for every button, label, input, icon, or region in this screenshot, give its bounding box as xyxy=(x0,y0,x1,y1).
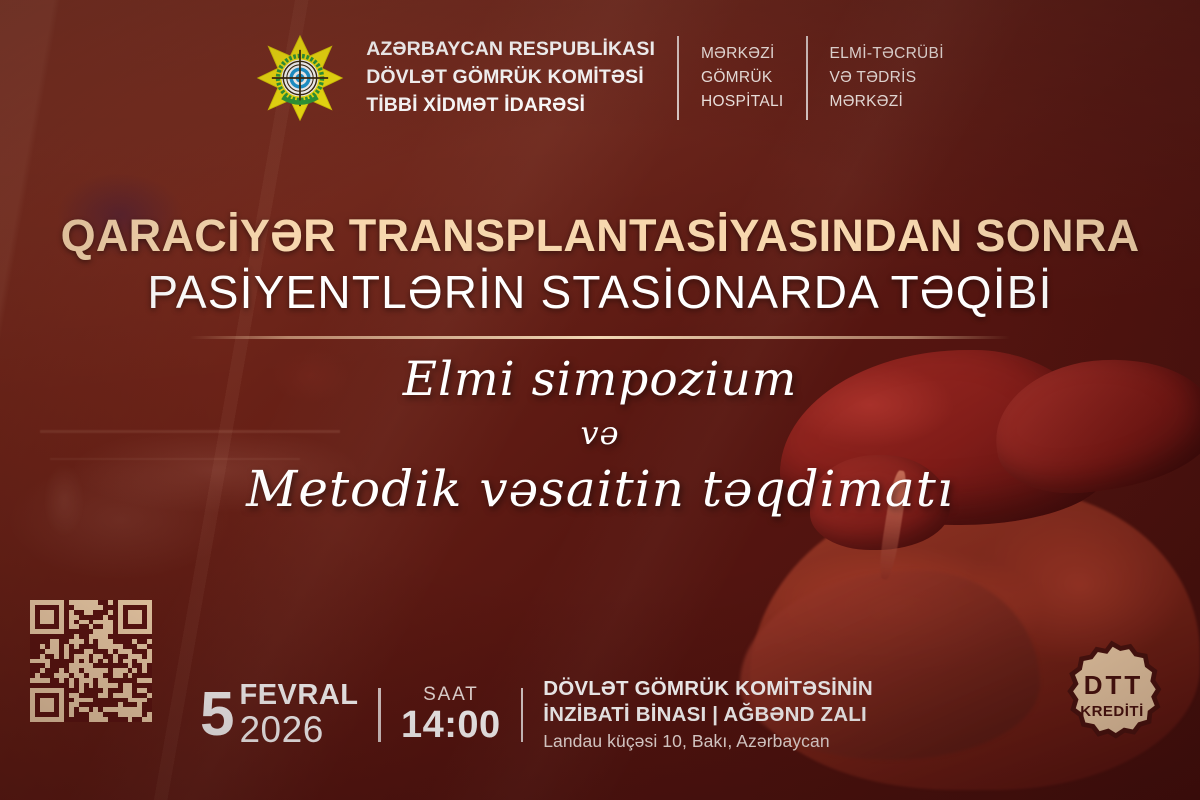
event-time: SAAT 14:00 xyxy=(401,684,501,747)
organization-name: AZƏRBAYCAN RESPUBLİKASI DÖVLƏT GÖMRÜK KO… xyxy=(366,36,655,119)
scalloped-badge-icon xyxy=(1055,638,1169,752)
event-subtitle: Elmi simpozium və Metodik vəsaitin təqdi… xyxy=(0,356,1200,514)
unit-central-customs-hospital: MƏRKƏZİ GÖMRÜK HOSPİTALI xyxy=(701,42,784,114)
header-divider-2 xyxy=(806,36,808,120)
subtitle-line-3: Metodik vəsaitin təqdimatı xyxy=(0,464,1200,514)
org-line-1: AZƏRBAYCAN RESPUBLİKASI xyxy=(366,36,655,64)
title-line-2: PASİYENTLƏRİN STASİONARDA TƏQİBİ xyxy=(0,268,1200,316)
event-details-bar: 5 FEVRAL 2026 SAAT 14:00 DÖVLƏT GÖMRÜK K… xyxy=(200,676,873,754)
subtitle-line-1: Elmi simpozium xyxy=(0,356,1200,403)
event-day: 5 xyxy=(200,688,233,741)
event-month-year: FEVRAL 2026 xyxy=(239,681,358,748)
header-divider-1 xyxy=(677,36,679,120)
page-title: QARACİYƏR TRANSPLANTASİYASINDAN SONRA PA… xyxy=(0,212,1200,317)
unit1-line-3: HOSPİTALI xyxy=(701,90,784,114)
subtitle-line-2: və xyxy=(0,403,1200,464)
org-line-3: TİBBİ XİDMƏT İDARƏSİ xyxy=(366,92,655,120)
time-value: 14:00 xyxy=(401,706,501,746)
unit1-line-1: MƏRKƏZİ xyxy=(701,42,784,66)
gold-divider xyxy=(190,336,1010,339)
venue-line-2: İNZİBATİ BİNASI | AĞBƏND ZALI xyxy=(543,702,873,728)
unit2-line-3: MƏRKƏZİ xyxy=(830,90,944,114)
dtt-credit-badge: DTT KREDİTİ xyxy=(1055,638,1169,752)
poster-header: AZƏRBAYCAN RESPUBLİKASI DÖVLƏT GÖMRÜK KO… xyxy=(0,34,1200,122)
state-customs-committee-emblem-icon xyxy=(256,34,344,122)
unit1-line-2: GÖMRÜK xyxy=(701,66,784,90)
time-label: SAAT xyxy=(401,684,501,707)
event-date: 5 FEVRAL 2026 xyxy=(200,681,358,748)
event-year: 2026 xyxy=(239,711,358,748)
unit2-line-2: VƏ TƏDRİS xyxy=(830,66,944,90)
venue-line-1: DÖVLƏT GÖMRÜK KOMİTƏSİNİN xyxy=(543,676,873,702)
qr-code[interactable] xyxy=(30,600,152,722)
event-month: FEVRAL xyxy=(239,681,358,710)
detail-divider-1 xyxy=(378,688,381,742)
event-venue: DÖVLƏT GÖMRÜK KOMİTƏSİNİN İNZİBATİ BİNAS… xyxy=(543,676,873,754)
event-poster: AZƏRBAYCAN RESPUBLİKASI DÖVLƏT GÖMRÜK KO… xyxy=(0,0,1200,800)
title-line-1: QARACİYƏR TRANSPLANTASİYASINDAN SONRA xyxy=(0,212,1200,259)
detail-divider-2 xyxy=(521,688,524,742)
unit2-line-1: ELMİ-TƏCRÜBİ xyxy=(830,42,944,66)
org-line-2: DÖVLƏT GÖMRÜK KOMİTƏSİ xyxy=(366,64,655,92)
venue-address: Landau küçəsi 10, Bakı, Azərbaycan xyxy=(543,729,873,754)
unit-scientific-training-center: ELMİ-TƏCRÜBİ VƏ TƏDRİS MƏRKƏZİ xyxy=(830,42,944,114)
